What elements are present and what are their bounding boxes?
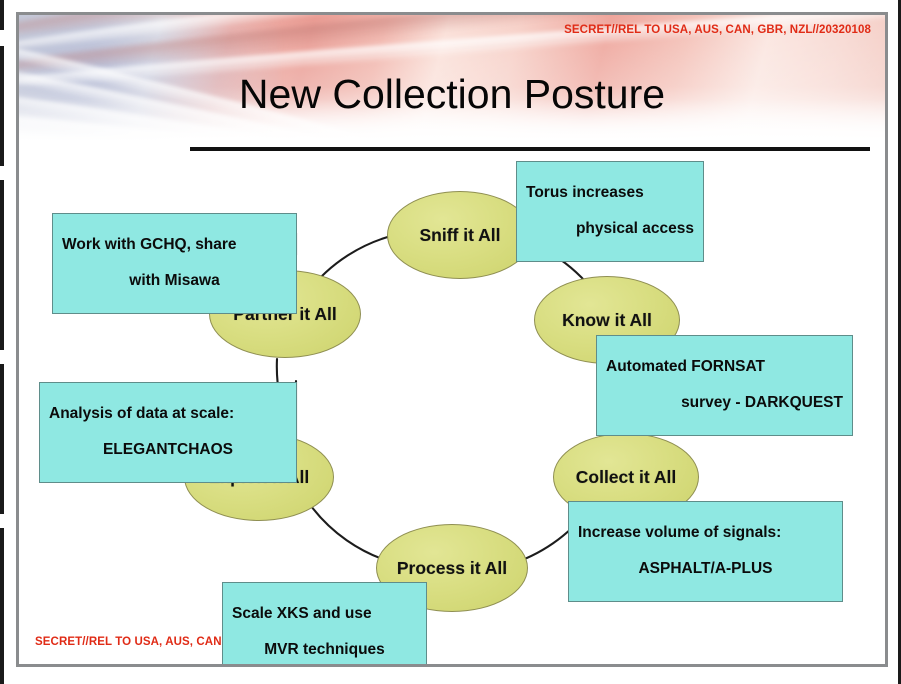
scan-edge-mark xyxy=(0,0,4,30)
callout-line-2: with Misawa xyxy=(62,272,287,290)
callout-line-2: physical access xyxy=(526,220,694,238)
node-sniff-it-all[interactable]: Sniff it All xyxy=(387,191,533,279)
callout-line-2: MVR techniques xyxy=(232,641,417,659)
collection-cycle-diagram: Sniff it All Know it All Collect it All … xyxy=(19,145,885,650)
node-label: Know it All xyxy=(562,310,652,331)
callout-xks: Scale XKS and use MVR techniques xyxy=(222,582,427,667)
callout-line-1: Analysis of data at scale: xyxy=(49,405,287,423)
callout-asphalt: Increase volume of signals: ASPHALT/A-PL… xyxy=(568,501,843,602)
scan-edge-mark xyxy=(0,180,4,350)
callout-line-1: Work with GCHQ, share xyxy=(62,236,287,254)
classification-banner-top: SECRET//REL TO USA, AUS, CAN, GBR, NZL//… xyxy=(564,24,871,36)
scan-edge-mark xyxy=(0,46,4,166)
callout-line-1: Increase volume of signals: xyxy=(578,524,833,542)
callout-line-1: Scale XKS and use xyxy=(232,605,417,623)
callout-gchq: Work with GCHQ, share with Misawa xyxy=(52,213,297,314)
callout-line-2: ELEGANTCHAOS xyxy=(49,441,287,459)
callout-elegantchaos: Analysis of data at scale: ELEGANTCHAOS xyxy=(39,382,297,483)
callout-fornsat: Automated FORNSAT survey - DARKQUEST xyxy=(596,335,853,436)
callout-line-1: Automated FORNSAT xyxy=(606,358,843,376)
node-label: Process it All xyxy=(397,558,507,579)
scan-edge-mark xyxy=(0,528,4,684)
screenshot-root: SECRET//REL TO USA, AUS, CAN, GBR, NZL//… xyxy=(0,0,901,684)
callout-line-2: ASPHALT/A-PLUS xyxy=(578,560,833,578)
callout-line-2: survey - DARKQUEST xyxy=(606,394,843,412)
callout-torus: Torus increases physical access xyxy=(516,161,704,262)
slide-frame: SECRET//REL TO USA, AUS, CAN, GBR, NZL//… xyxy=(16,12,888,667)
scan-edge-mark xyxy=(0,364,4,514)
callout-line-1: Torus increases xyxy=(526,184,694,202)
page-title: New Collection Posture xyxy=(19,71,885,118)
node-label: Collect it All xyxy=(576,467,676,488)
node-label: Sniff it All xyxy=(419,225,500,246)
